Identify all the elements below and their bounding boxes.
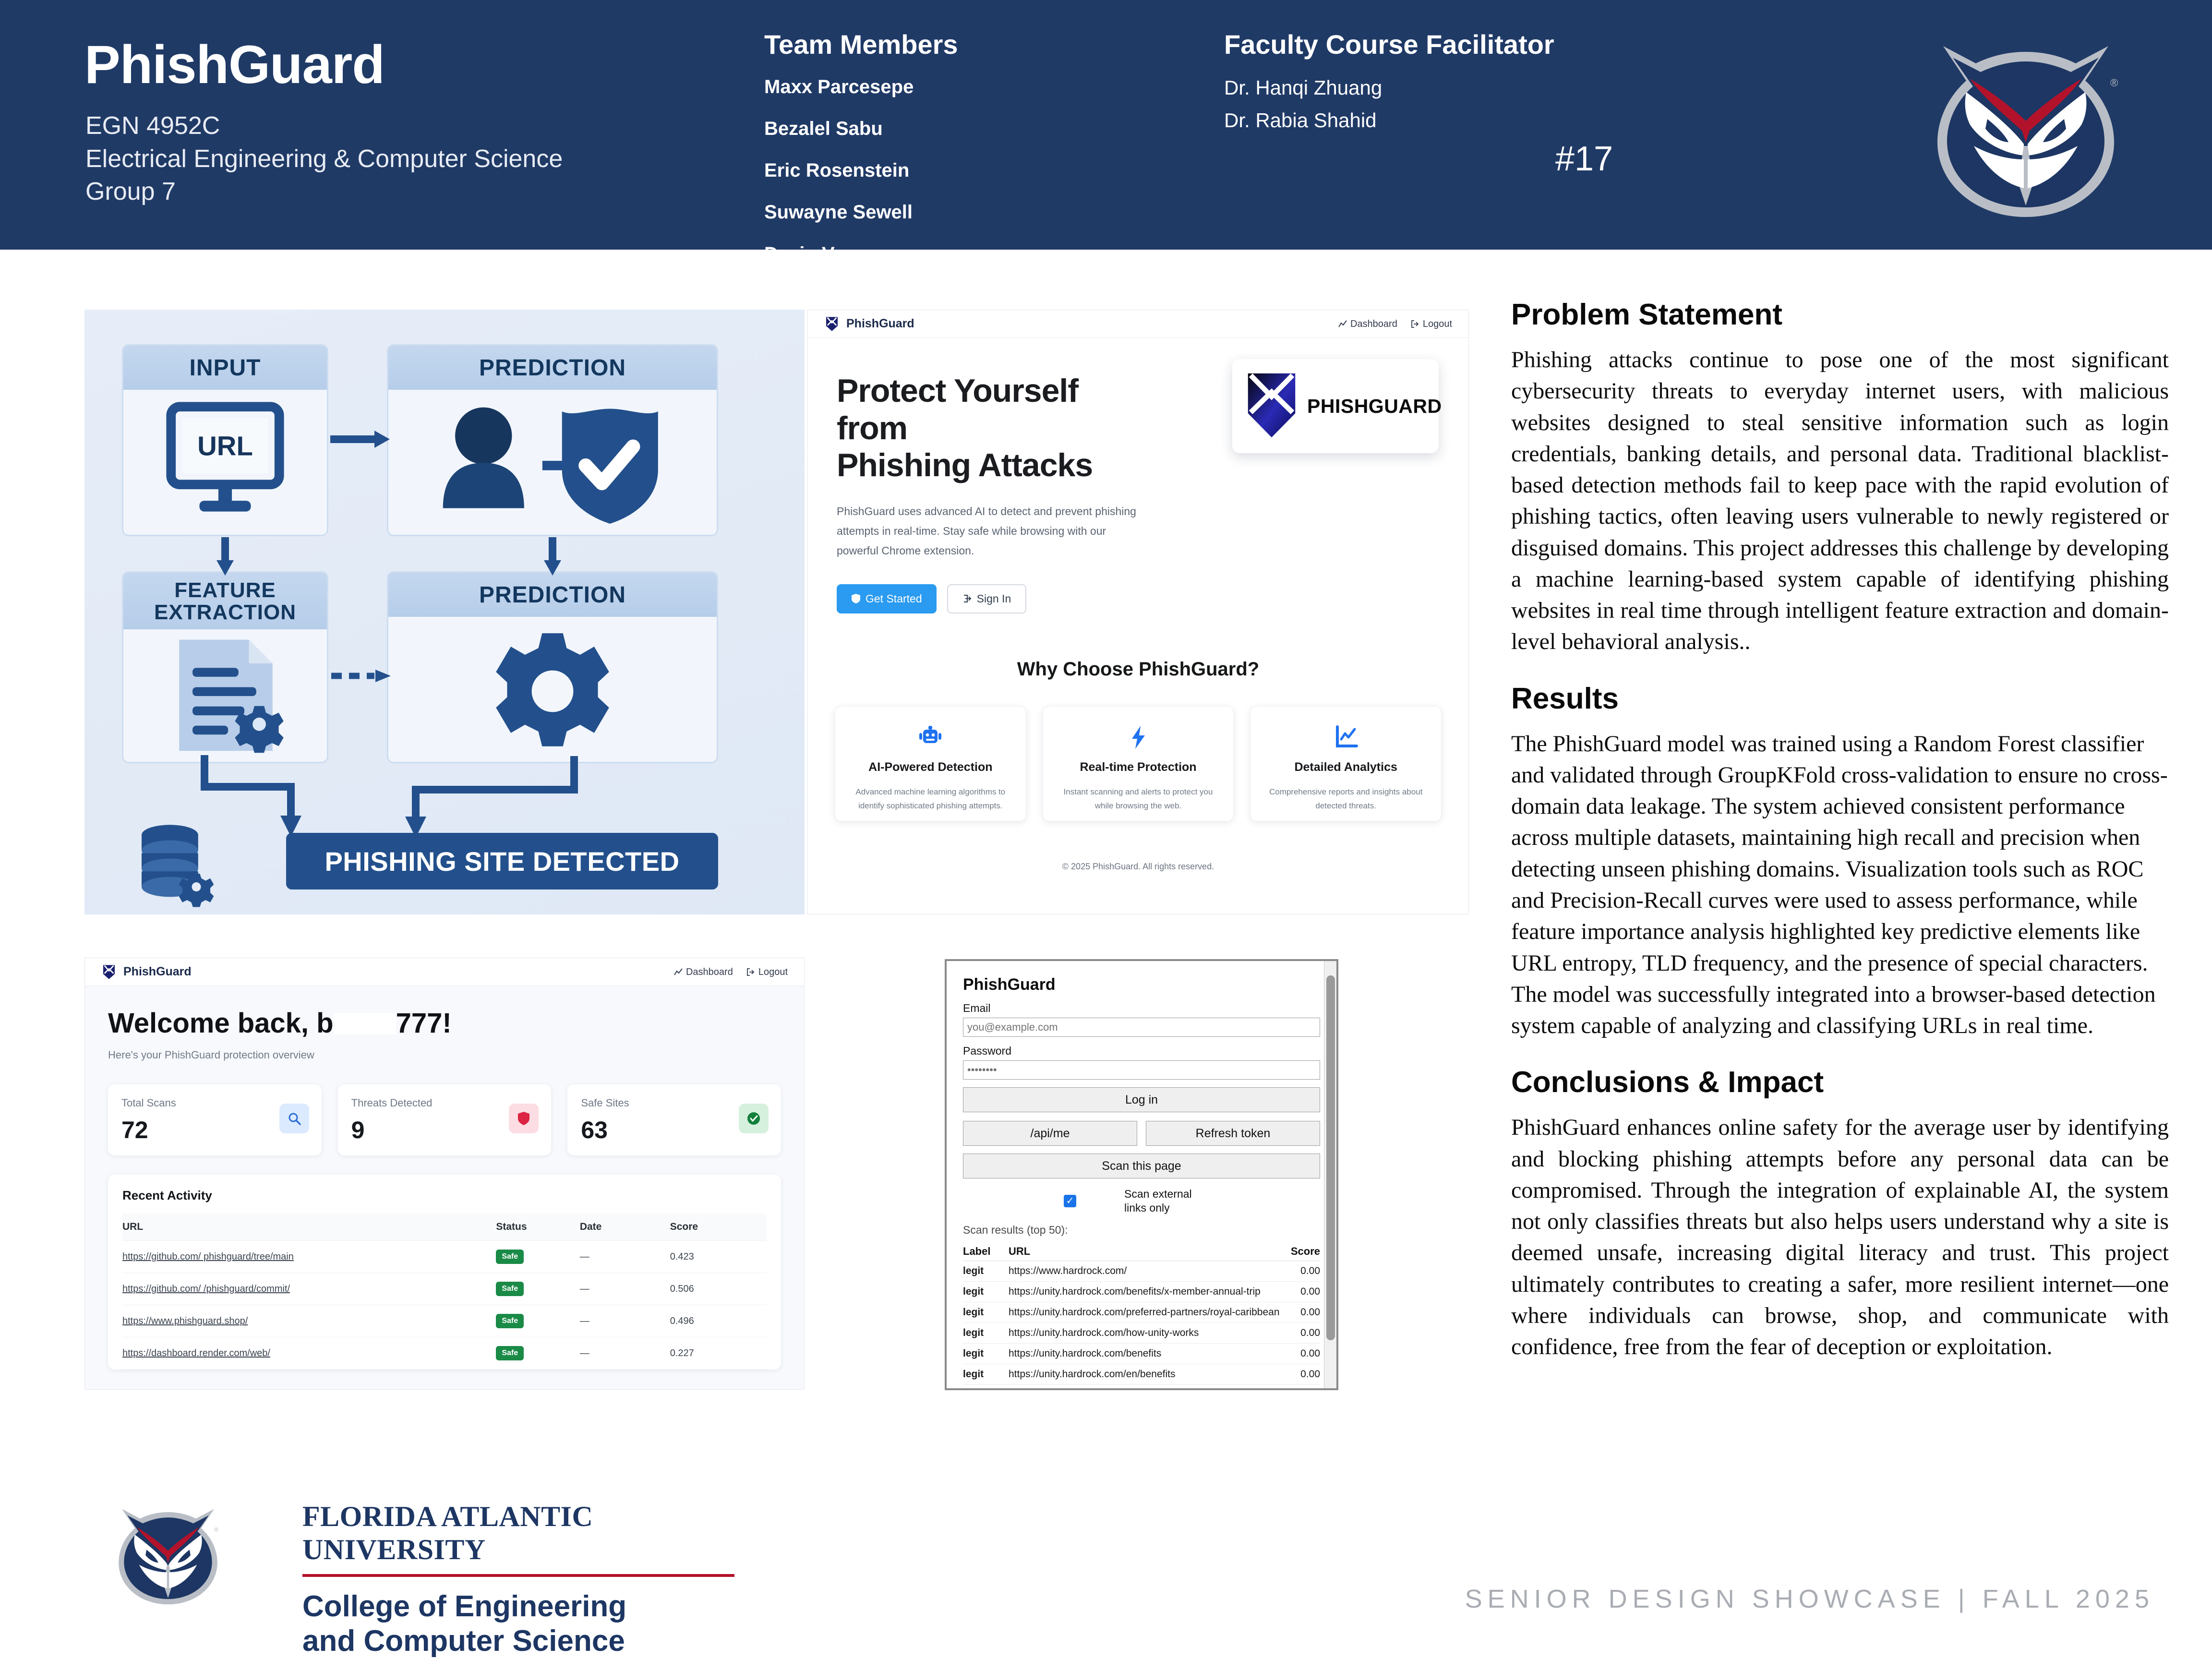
landing-hero: Protect Yourself from Phishing Attacks P… (808, 338, 1468, 613)
diagram-input-label: INPUT (123, 346, 327, 390)
dashboard-stat-cards: Total Scans 72 Threats Detected 9 Safe S… (108, 1084, 781, 1155)
nav-logout-link[interactable]: Logout (746, 967, 788, 978)
extension-scrollbar[interactable] (1324, 961, 1336, 1388)
diagram-box-input: INPUT URL (122, 344, 328, 536)
get-started-label: Get Started (866, 592, 922, 605)
row-score: 0.227 (670, 1337, 767, 1370)
scan-external-label: Scan external links only (1124, 1187, 1206, 1215)
feature-card-ai: AI-Powered Detection Advanced machine le… (835, 706, 1026, 821)
showcase-footer-text: SENIOR DESIGN SHOWCASE | FALL 2025 (1465, 1584, 2154, 1614)
logout-icon (746, 968, 755, 976)
landing-page-screenshot: PhishGuard Dashboard Logout Protect Your… (807, 310, 1469, 914)
nav-logout-label: Logout (1423, 319, 1452, 330)
feature-card-title: AI-Powered Detection (848, 760, 1013, 774)
col-url: URL (1009, 1242, 1290, 1261)
table-row: https://github.com/ /phishguard/commit/ … (122, 1273, 767, 1305)
feature-card-realtime: Real-time Protection Instant scanning an… (1043, 706, 1234, 821)
fau-owl-logo-icon: ® (1863, 24, 2189, 226)
row-url: https://unity.hardrock.com/benefits/x-me… (1009, 1281, 1290, 1302)
phishguard-shield-mark-icon (1246, 373, 1298, 440)
department-name: Electrical Engineering & Computer Scienc… (85, 143, 563, 176)
diagram-input-body: URL (123, 390, 327, 536)
status-badge: Safe (496, 1282, 524, 1296)
feature-cards: AI-Powered Detection Advanced machine le… (808, 706, 1468, 821)
phishing-site-detected-bar: PHISHING SITE DETECTED (286, 833, 718, 890)
row-url[interactable]: https://github.com/ /phishguard/commit/ (122, 1273, 496, 1305)
problem-statement-body: Phishing attacks continue to pose one of… (1511, 344, 2169, 658)
extension-panel: PhishGuard Email Password Log in /api/me… (947, 961, 1336, 1388)
dashboard-subtitle: Here's your PhishGuard protection overvi… (108, 1049, 781, 1061)
login-button[interactable]: Log in (963, 1087, 1320, 1112)
table-header-row: Label URL Score (963, 1242, 1320, 1261)
fau-wordmark: FLORIDA ATLANTIC UNIVERSITY College of E… (302, 1500, 734, 1659)
feature-card-title: Real-time Protection (1056, 760, 1221, 774)
team-members-heading: Team Members (764, 29, 1225, 60)
fau-university-name: FLORIDA ATLANTIC UNIVERSITY (302, 1500, 734, 1566)
stat-card-safe-sites: Safe Sites 63 (567, 1084, 781, 1155)
row-url: https://unity.hardrock.com/how-unity-wor… (1009, 1322, 1290, 1343)
row-status: Safe (496, 1337, 579, 1370)
table-header-row: URL Status Date Score (122, 1214, 767, 1241)
scrollbar-thumb[interactable] (1326, 975, 1335, 1340)
row-score: 0.00 (1290, 1281, 1320, 1302)
faculty-member: Dr. Hanqi Zhuang (1224, 76, 1656, 99)
why-choose-heading: Why Choose PhishGuard? (808, 659, 1468, 680)
fau-owl-logo-icon: ® (77, 1486, 259, 1620)
team-member: Davin Vu (764, 243, 1225, 265)
row-score: 0.423 (670, 1241, 767, 1273)
row-url[interactable]: https://github.com/ phishguard/tree/main (122, 1241, 496, 1273)
status-badge: Safe (496, 1314, 524, 1328)
col-score: Score (670, 1214, 767, 1241)
arrowhead-down-2 (542, 560, 563, 577)
row-score: 0.00 (1290, 1364, 1320, 1384)
hero-description: PhishGuard uses advanced AI to detect an… (837, 502, 1149, 561)
scan-external-checkbox[interactable]: ✓ (1064, 1195, 1076, 1207)
scan-results-label: Scan results (top 50): (963, 1224, 1320, 1237)
dashboard-welcome-title: Welcome back, b777! (108, 1007, 781, 1039)
poster-number-badge: #17 (1555, 139, 1613, 179)
email-field[interactable] (963, 1018, 1320, 1037)
table-row: https://dashboard.render.com/web/ Safe —… (122, 1337, 767, 1370)
row-date: — (580, 1273, 670, 1305)
svg-text:URL: URL (197, 431, 253, 461)
row-score: 0.506 (670, 1273, 767, 1305)
database-gear-icon (132, 818, 224, 910)
row-url: https://unity.hardrock.com/preferred-par… (1009, 1302, 1290, 1322)
row-date: — (580, 1337, 670, 1370)
get-started-button[interactable]: Get Started (837, 584, 937, 613)
fau-divider (302, 1574, 734, 1577)
arrow-input-to-prediction (330, 435, 376, 443)
scan-results-table: Label URL Score legit https://www.hardro… (963, 1242, 1320, 1385)
monitor-url-icon: URL (123, 390, 327, 536)
phishguard-wordmark: PHISHGUARD (1307, 395, 1442, 418)
sign-in-button[interactable]: Sign In (947, 584, 1027, 613)
svg-text:®: ® (2110, 77, 2118, 89)
team-member: Bezalel Sabu (764, 118, 1225, 140)
row-label: legit (963, 1302, 1009, 1322)
diagram-prediction-2-body (388, 617, 717, 763)
col-url: URL (122, 1214, 496, 1241)
results-section: Results The PhishGuard model was trained… (1511, 682, 2169, 1042)
diagram-prediction-label-1: PREDICTION (388, 346, 717, 390)
row-label: legit (963, 1281, 1009, 1302)
table-row: legit https://unity.hardrock.com/benefit… (963, 1281, 1320, 1302)
diagram-prediction-label-2: PREDICTION (388, 573, 717, 617)
gear-icon (388, 617, 717, 763)
row-score: 0.00 (1290, 1261, 1320, 1281)
row-date: — (580, 1241, 670, 1273)
recent-activity-table: URL Status Date Score https://github.com… (122, 1214, 767, 1370)
welcome-prefix: Welcome back, b (108, 1008, 334, 1039)
conclusions-section: Conclusions & Impact PhishGuard enhances… (1511, 1065, 2169, 1362)
logout-icon (1411, 320, 1419, 328)
architecture-diagram: INPUT URL PREDICTION FEATURE (84, 310, 805, 914)
row-url[interactable]: https://dashboard.render.com/web/ (122, 1337, 496, 1370)
feature-card-desc: Instant scanning and alerts to protect y… (1056, 785, 1221, 814)
scan-page-button[interactable]: Scan this page (963, 1154, 1320, 1178)
diagram-prediction-1-body (388, 390, 717, 536)
stat-card-threats-detected: Threats Detected 9 (338, 1084, 552, 1155)
feature-card-desc: Advanced machine learning algorithms to … (848, 785, 1013, 814)
nav-dashboard-label: Dashboard (686, 967, 733, 978)
faculty-member: Dr. Rabia Shahid (1224, 109, 1656, 132)
recent-activity-panel: Recent Activity URL Status Date Score ht… (108, 1175, 781, 1370)
sign-in-label: Sign In (977, 592, 1011, 605)
search-icon (279, 1104, 309, 1133)
welcome-suffix: 777! (396, 1008, 452, 1039)
dashboard-screenshot: PhishGuard Dashboard Logout Welcome back… (84, 958, 805, 1390)
table-row: legit https://unity.hardrock.com/preferr… (963, 1302, 1320, 1322)
dashboard-brand: PhishGuard (123, 965, 192, 979)
nav-dashboard-link[interactable]: Dashboard (1338, 319, 1397, 330)
row-score: 0.00 (1290, 1322, 1320, 1343)
row-url[interactable]: https://www.phishguard.shop/ (122, 1305, 496, 1337)
stat-card-total-scans: Total Scans 72 (108, 1084, 322, 1155)
dashboard-navbar: PhishGuard Dashboard Logout (85, 958, 804, 986)
dashed-arrow-feature-to-prediction2 (330, 669, 393, 683)
col-date: Date (580, 1214, 670, 1241)
landing-nav-links: Dashboard Logout (1338, 310, 1452, 338)
api-me-button[interactable]: /api/me (963, 1121, 1137, 1146)
chart-line-icon (1338, 320, 1347, 328)
chart-line-icon (674, 968, 683, 976)
phishguard-logo-icon (824, 316, 840, 332)
password-field[interactable] (963, 1060, 1320, 1080)
status-badge: Safe (496, 1250, 524, 1264)
row-score: 0.496 (670, 1305, 767, 1337)
poster-title: PhishGuard (84, 34, 385, 96)
row-url: https://unity.hardrock.com/benefits (1009, 1343, 1290, 1364)
team-member: Eric Rosenstein (764, 160, 1225, 181)
row-status: Safe (496, 1241, 579, 1273)
fau-footer-logo: ® FLORIDA ATLANTIC UNIVERSITY College of… (67, 1476, 749, 1630)
fau-college-name: College of Engineering and Computer Scie… (302, 1589, 734, 1659)
refresh-token-button[interactable]: Refresh token (1146, 1121, 1320, 1146)
col-score: Score (1290, 1242, 1320, 1261)
diagram-feature-label: FEATURE EXTRACTION (123, 573, 327, 629)
shield-alert-icon (509, 1104, 539, 1133)
col-label: Label (963, 1242, 1009, 1261)
table-row: https://github.com/ phishguard/tree/main… (122, 1241, 767, 1273)
table-row: legit https://unity.hardrock.com/en/bene… (963, 1364, 1320, 1384)
landing-copyright: © 2025 PhishGuard. All rights reserved. (808, 862, 1468, 872)
diagram-feature-body (123, 629, 327, 763)
feature-card-analytics: Detailed Analytics Comprehensive reports… (1250, 706, 1442, 821)
arrowhead-down-1 (215, 560, 236, 577)
row-label: legit (963, 1364, 1009, 1384)
user-shield-icon (388, 390, 717, 536)
phishguard-logo-card: PHISHGUARD (1232, 359, 1439, 453)
row-label: legit (963, 1261, 1009, 1281)
results-body: The PhishGuard model was trained using a… (1511, 728, 2169, 1042)
robot-icon (848, 725, 1013, 750)
extension-title: PhishGuard (963, 975, 1320, 994)
nav-logout-label: Logout (758, 967, 788, 978)
problem-statement-heading: Problem Statement (1511, 298, 2169, 332)
dashboard-nav-links: Dashboard Logout (674, 958, 788, 986)
nav-dashboard-label: Dashboard (1350, 319, 1397, 330)
feature-card-title: Detailed Analytics (1263, 760, 1429, 774)
course-code: EGN 4952C (85, 109, 563, 143)
sign-in-icon (962, 594, 972, 603)
email-label: Email (963, 1002, 1320, 1015)
landing-brand: PhishGuard (846, 317, 914, 331)
document-gear-icon (123, 629, 327, 763)
scan-external-row: ✓ Scan external links only (963, 1187, 1320, 1215)
nav-logout-link[interactable]: Logout (1411, 319, 1452, 330)
table-row: legit https://www.hardrock.com/ 0.00 (963, 1261, 1320, 1281)
feature-card-desc: Comprehensive reports and insights about… (1263, 785, 1429, 814)
poster-text-column: Problem Statement Phishing attacks conti… (1511, 298, 2169, 1386)
extension-button-row: /api/me Refresh token (963, 1121, 1320, 1146)
team-member: Maxx Parcesepe (764, 76, 1225, 98)
status-badge: Safe (496, 1346, 524, 1360)
poster-header: PhishGuard EGN 4952C Electrical Engineer… (0, 0, 2212, 250)
recent-activity-title: Recent Activity (122, 1188, 767, 1203)
diagram-box-feature-extraction: FEATURE EXTRACTION (122, 571, 328, 763)
faculty-heading: Faculty Course Facilitator (1224, 29, 1656, 60)
team-members-column: Team Members Maxx Parcesepe Bezalel Sabu… (764, 29, 1225, 285)
row-score: 0.00 (1290, 1343, 1320, 1364)
poster-subtitle-block: EGN 4952C Electrical Engineering & Compu… (85, 109, 563, 208)
dashboard-body: Welcome back, b777! Here's your PhishGua… (85, 986, 804, 1390)
hero-buttons: Get Started Sign In (837, 584, 1440, 613)
row-score: 0.00 (1290, 1302, 1320, 1322)
nav-dashboard-link[interactable]: Dashboard (674, 967, 733, 978)
table-row: https://www.phishguard.shop/ Safe — 0.49… (122, 1305, 767, 1337)
row-label: legit (963, 1343, 1009, 1364)
bolt-icon (1056, 725, 1221, 750)
conclusions-heading: Conclusions & Impact (1511, 1065, 2169, 1099)
check-circle-icon (739, 1104, 769, 1133)
row-url: https://www.hardrock.com/ (1009, 1261, 1290, 1281)
row-label: legit (963, 1322, 1009, 1343)
redacted-username (334, 1013, 396, 1034)
hero-title: Protect Yourself from Phishing Attacks (837, 373, 1154, 484)
row-date: — (580, 1305, 670, 1337)
results-heading: Results (1511, 682, 2169, 716)
col-status: Status (496, 1214, 579, 1241)
svg-text:®: ® (214, 1526, 218, 1533)
table-row: legit https://unity.hardrock.com/how-uni… (963, 1322, 1320, 1343)
faculty-column: Faculty Course Facilitator Dr. Hanqi Zhu… (1224, 29, 1656, 142)
shield-icon (851, 593, 861, 604)
problem-statement-section: Problem Statement Phishing attacks conti… (1511, 298, 2169, 658)
landing-navbar: PhishGuard Dashboard Logout (808, 310, 1468, 338)
password-label: Password (963, 1045, 1320, 1058)
arrowhead-right-1 (374, 429, 391, 450)
row-url: https://unity.hardrock.com/en/benefits (1009, 1364, 1290, 1384)
row-status: Safe (496, 1305, 579, 1337)
extension-popup-screenshot: PhishGuard Email Password Log in /api/me… (945, 959, 1338, 1390)
diagram-box-prediction-2: PREDICTION (387, 571, 718, 763)
diagram-box-prediction-1: PREDICTION (387, 344, 718, 536)
group-name: Group 7 (85, 175, 563, 208)
phishguard-logo-icon (101, 964, 117, 980)
chart-icon (1263, 725, 1429, 750)
table-row: legit https://unity.hardrock.com/benefit… (963, 1343, 1320, 1364)
row-status: Safe (496, 1273, 579, 1305)
team-member: Suwayne Sewell (764, 202, 1225, 223)
conclusions-body: PhishGuard enhances online safety for th… (1511, 1112, 2169, 1362)
